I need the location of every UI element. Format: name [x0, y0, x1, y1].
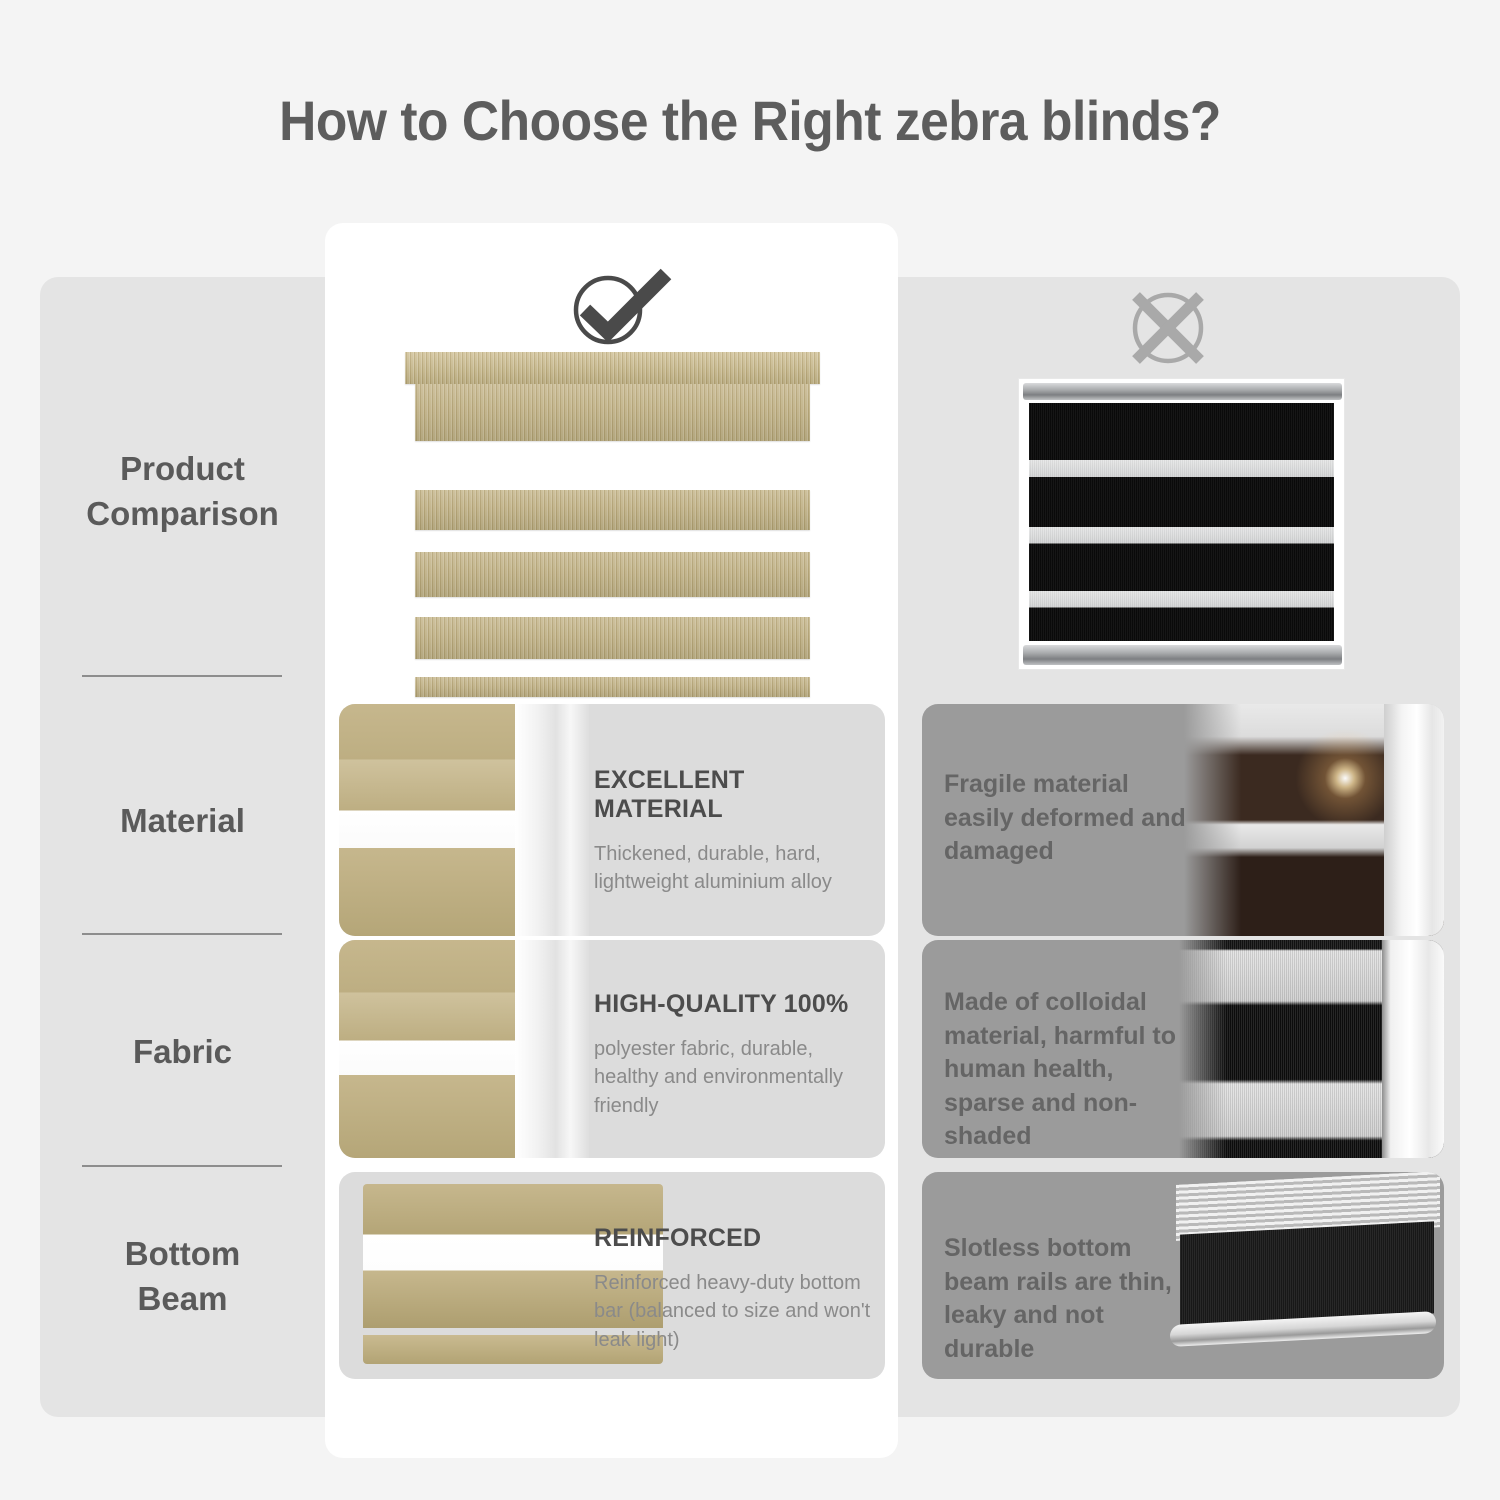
row-label-line2: Comparison [40, 492, 325, 537]
good-feature-card-material: EXCELLENT MATERIAL Thickened, durable, h… [339, 704, 885, 936]
window-frame [515, 940, 589, 1158]
row-label-line1: Material [40, 799, 325, 844]
cross-circle-icon [1118, 283, 1218, 373]
window-frame [1384, 704, 1444, 936]
window-frame [515, 704, 589, 936]
blind-slat [415, 552, 810, 597]
row-label-line2: Beam [40, 1277, 325, 1322]
check-circle-icon [560, 262, 680, 352]
row-label-line1: Product [40, 447, 325, 492]
row-label-column: Product Comparison Material Fabric Botto… [40, 277, 325, 1417]
bad-feature-card-fabric: Made of colloidal material, harmful to h… [922, 940, 1444, 1158]
page-title: How to Choose the Right zebra blinds? [60, 88, 1440, 153]
row-divider-1 [82, 675, 282, 677]
row-divider-2 [82, 933, 282, 935]
good-feature-card-bottom-beam: REINFORCED Reinforced heavy-duty bottom … [339, 1172, 885, 1379]
row-label-line1: Bottom [40, 1232, 325, 1277]
good-material-body: Thickened, durable, hard, lightweight al… [594, 840, 869, 897]
good-fabric-photo [339, 940, 589, 1158]
blind-bottom-bar [415, 677, 810, 697]
good-fabric-text: HIGH-QUALITY 100% polyester fabric, dura… [594, 990, 874, 1120]
row-label-material: Material [40, 799, 325, 844]
good-hero-image [405, 352, 820, 697]
blind-slat [415, 617, 810, 659]
bad-feature-card-material: Fragile material easily deformed and dam… [922, 704, 1444, 936]
bad-feature-card-bottom-beam: Slotless bottom beam rails are thin, lea… [922, 1172, 1444, 1379]
good-bottom-beam-heading: REINFORCED [594, 1224, 874, 1253]
bad-material-photo [1184, 704, 1444, 936]
row-label-line1: Fabric [40, 1030, 325, 1075]
good-feature-card-fabric: HIGH-QUALITY 100% polyester fabric, dura… [339, 940, 885, 1158]
row-label-product-comparison: Product Comparison [40, 447, 325, 536]
good-material-text: EXCELLENT MATERIAL Thickened, durable, h… [594, 766, 869, 897]
blind-slat [415, 490, 810, 530]
good-material-heading: EXCELLENT MATERIAL [594, 766, 869, 824]
bad-fabric-photo [1179, 940, 1444, 1158]
window-frame [1382, 940, 1444, 1158]
bad-fabric-body: Made of colloidal material, harmful to h… [944, 986, 1194, 1154]
bad-bottom-beam-photo [1170, 1178, 1440, 1368]
good-fabric-heading: HIGH-QUALITY 100% [594, 990, 874, 1019]
row-label-fabric: Fabric [40, 1030, 325, 1075]
good-material-photo [339, 704, 589, 936]
row-label-bottom-beam: Bottom Beam [40, 1232, 325, 1321]
good-fabric-body: polyester fabric, durable, healthy and e… [594, 1035, 874, 1120]
black-panel [1180, 1221, 1434, 1326]
blind-slat [415, 384, 810, 441]
blind-headrail [1023, 383, 1342, 400]
bad-hero-image [1018, 378, 1345, 670]
blind-headrail [405, 352, 820, 384]
row-divider-3 [82, 1165, 282, 1167]
good-bottom-beam-body: Reinforced heavy-duty bottom bar (balanc… [594, 1269, 874, 1354]
good-bottom-beam-text: REINFORCED Reinforced heavy-duty bottom … [594, 1224, 874, 1354]
blind-bottom-rail [1023, 645, 1342, 665]
bad-material-body: Fragile material easily deformed and dam… [944, 768, 1194, 869]
bad-bottom-beam-body: Slotless bottom beam rails are thin, lea… [944, 1232, 1194, 1366]
blind-fabric [1029, 403, 1334, 641]
